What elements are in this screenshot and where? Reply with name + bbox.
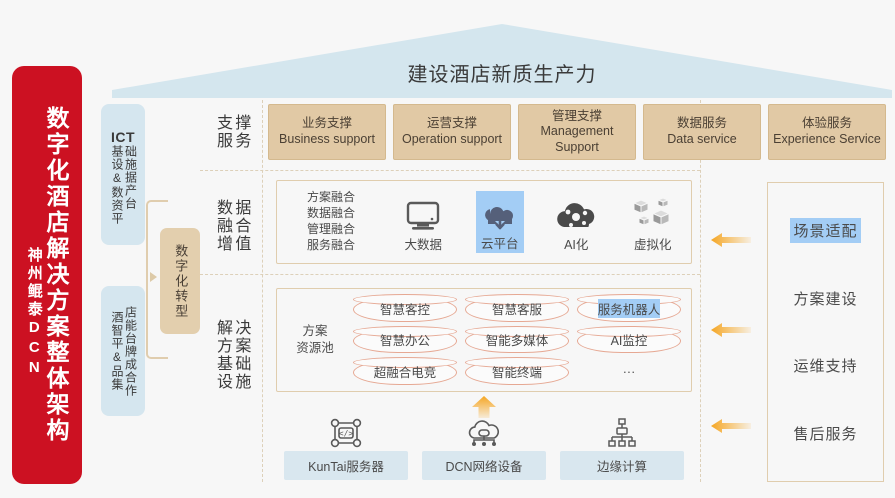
support-cell-management-cn: 管理支撑 — [552, 109, 602, 125]
support-cell-management-en: Management Support — [519, 124, 635, 155]
infra-item-dcn-network-label: DCN网络设备 — [422, 451, 546, 480]
support-cell-operation-cn: 运营支撑 — [427, 116, 477, 132]
row-label-1-right: 撑务 — [231, 114, 249, 150]
digital-transformation-box[interactable]: 数字化转型 — [160, 228, 200, 334]
service-lifecycle-panel: 场景适配 方案建设 运维支持 售后服务 — [767, 182, 884, 482]
fusion-item-ai-label: AI化 — [564, 234, 588, 253]
ict-vertical-text: 础施据产台 基设&数资平 — [110, 145, 137, 225]
cloud-sync-icon — [480, 193, 520, 233]
hotel-platform-box[interactable]: 店能台牌成合作 酒智平&品集 — [101, 286, 145, 416]
lifecycle-item-after-sales-service[interactable]: 售后服务 — [790, 421, 860, 446]
data-fusion-panel: 方案融合 数据融合 管理融合 服务融合 大数据 — [276, 180, 692, 264]
row-label-data-fusion: 据合值 数融增 — [200, 186, 262, 266]
pool-item-label: AI监控 — [611, 330, 648, 349]
fusion-item-ai[interactable]: AI化 — [545, 192, 607, 253]
infra-item-kuntai-server-label: KunTai服务器 — [284, 451, 408, 480]
roof-title: 建设酒店新质生产力 — [112, 24, 892, 98]
roof-shape: 建设酒店新质生产力 — [112, 24, 892, 98]
pool-item-more: ··· — [577, 358, 681, 385]
support-cell-experience-en: Experience Service — [773, 132, 881, 148]
left-arrow-icon-2 — [711, 322, 751, 338]
row-label-2-right: 据合值 — [231, 199, 249, 253]
pool-item-label: 智慧客控 — [380, 299, 430, 318]
row-label-3-left: 解方基设 — [213, 319, 231, 391]
infra-item-edge-computing-label: 边缘计算 — [560, 451, 684, 480]
fusion-item-bigdata-label: 大数据 — [404, 234, 442, 253]
fusion-item-cloud-label: 云平台 — [481, 233, 519, 252]
fusion-item-cloud[interactable]: 云平台 — [469, 191, 531, 253]
infra-item-kuntai-server[interactable]: </> KunTai服务器 — [284, 418, 408, 480]
pool-item-label: 智能多媒体 — [486, 330, 549, 349]
pool-item-hyperconverged-esports[interactable]: 超融合电竞 — [353, 358, 457, 385]
pool-item-ai-monitoring[interactable]: AI监控 — [577, 327, 681, 354]
left-arrow-icon-3 — [711, 418, 751, 434]
pool-item-label: 智能终端 — [492, 362, 542, 381]
fusion-list-item-2: 管理融合 — [307, 222, 355, 238]
pool-item-label: 智慧办公 — [380, 330, 430, 349]
support-cell-data[interactable]: 数据服务 Data service — [643, 104, 761, 160]
pool-item-label: 服务机器人 — [598, 299, 661, 318]
support-services-row: 业务支撑 Business support 运营支撑 Operation sup… — [268, 104, 886, 160]
grid-line-horizontal-2 — [200, 274, 700, 275]
ict-label: ICT — [111, 129, 135, 145]
banner-sub-title: 神州鲲泰DCN — [26, 171, 42, 379]
pool-item-smart-terminal[interactable]: 智能终端 — [465, 358, 569, 385]
support-cell-data-en: Data service — [667, 132, 736, 148]
fusion-text-list: 方案融合 数据融合 管理融合 服务融合 — [277, 190, 385, 253]
support-cell-business-en: Business support — [279, 132, 375, 148]
resource-pool-label-line2: 资源池 — [277, 340, 353, 357]
support-cell-operation[interactable]: 运营支撑 Operation support — [393, 104, 511, 160]
support-cell-data-cn: 数据服务 — [677, 116, 727, 132]
lifecycle-item-solution-construction[interactable]: 方案建设 — [790, 286, 860, 311]
support-cell-business-cn: 业务支撑 — [302, 116, 352, 132]
fusion-item-virtualization[interactable]: 虚拟化 — [622, 192, 684, 253]
title-banner: 数字化酒店解决方案整体架构 神州鲲泰DCN — [12, 66, 82, 484]
server-nodes-icon: </> — [330, 418, 362, 448]
grid-line-vertical-left — [262, 100, 263, 482]
support-cell-management[interactable]: 管理支撑 Management Support — [518, 104, 636, 160]
banner-main-title: 数字化酒店解决方案整体架构 — [44, 106, 68, 444]
support-cell-experience[interactable]: 体验服务 Experience Service — [768, 104, 886, 160]
digital-transformation-label: 数字化转型 — [173, 244, 188, 319]
resource-pool-label: 方案 资源池 — [277, 323, 353, 357]
infra-item-edge-computing[interactable]: 边缘计算 — [560, 418, 684, 480]
support-cell-experience-cn: 体验服务 — [802, 116, 852, 132]
lifecycle-item-operations-support[interactable]: 运维支持 — [790, 353, 860, 378]
pool-item-label: 超融合电竞 — [374, 362, 437, 381]
pool-item-smart-office[interactable]: 智慧办公 — [353, 327, 457, 354]
resource-pool-grid: 智慧客控 智慧客服 服务机器人 智慧办公 智能多媒体 AI监控 — [353, 289, 691, 391]
fusion-item-cloud-selection: 云平台 — [476, 191, 524, 253]
fusion-list-item-3: 服务融合 — [307, 238, 355, 254]
pool-item-label: ··· — [623, 365, 636, 379]
fusion-icon-items: 大数据 云平台 — [385, 181, 691, 263]
fusion-item-bigdata[interactable]: 大数据 — [392, 192, 454, 253]
lifecycle-item-scene-adaptation[interactable]: 场景适配 — [790, 218, 860, 243]
row-label-1-left: 支服 — [213, 114, 231, 150]
svg-text:</>: </> — [339, 429, 354, 438]
ict-text-col-left: 基设&数资平 — [110, 145, 123, 225]
connector-arrow-icon — [150, 272, 157, 282]
row-label-support-services: 撑务 支服 — [200, 104, 262, 160]
ict-text-col-right: 础施据产台 — [123, 145, 136, 225]
pool-item-smart-customer-service[interactable]: 智慧客服 — [465, 295, 569, 322]
ict-platform-box[interactable]: ICT 础施据产台 基设&数资平 — [101, 104, 145, 245]
infrastructure-row: </> KunTai服务器 DCN网络设备 — [284, 418, 684, 480]
row-label-2-left: 数融增 — [213, 199, 231, 253]
monitor-icon — [405, 192, 441, 232]
pool-item-service-robot[interactable]: 服务机器人 — [577, 295, 681, 322]
solution-resource-pool-panel: 方案 资源池 智慧客控 智慧客服 服务机器人 智慧办公 智能多媒体 — [276, 288, 692, 392]
row-label-solution-infrastructure: 决案础施 解方基设 — [200, 300, 262, 410]
ai-cloud-icon — [555, 192, 597, 232]
edge-tree-icon — [606, 418, 638, 448]
row-label-3-right: 决案础施 — [231, 319, 249, 391]
architecture-diagram: 数字化酒店解决方案整体架构 神州鲲泰DCN 建设酒店新质生产力 ICT 础施据产… — [0, 0, 895, 498]
hotel-text-col-right: 店能台牌成合作 — [123, 306, 136, 397]
fusion-list-item-0: 方案融合 — [307, 190, 355, 206]
cloud-network-icon — [466, 418, 502, 448]
grid-line-horizontal-1 — [200, 170, 700, 171]
support-cell-business[interactable]: 业务支撑 Business support — [268, 104, 386, 160]
support-cell-operation-en: Operation support — [402, 132, 502, 148]
left-arrow-icon-1 — [711, 232, 751, 248]
fusion-item-virtualization-label: 虚拟化 — [634, 234, 672, 253]
resource-pool-label-line1: 方案 — [277, 323, 353, 340]
pool-item-label: 智慧客服 — [492, 299, 542, 318]
pool-item-smart-room-control[interactable]: 智慧客控 — [353, 295, 457, 322]
pool-item-smart-multimedia[interactable]: 智能多媒体 — [465, 327, 569, 354]
hotel-text-col-left: 酒智平&品集 — [110, 311, 123, 391]
infra-item-dcn-network[interactable]: DCN网络设备 — [422, 418, 546, 480]
fusion-list-item-1: 数据融合 — [307, 206, 355, 222]
cubes-icon — [633, 192, 673, 232]
up-arrow-icon — [470, 396, 498, 418]
